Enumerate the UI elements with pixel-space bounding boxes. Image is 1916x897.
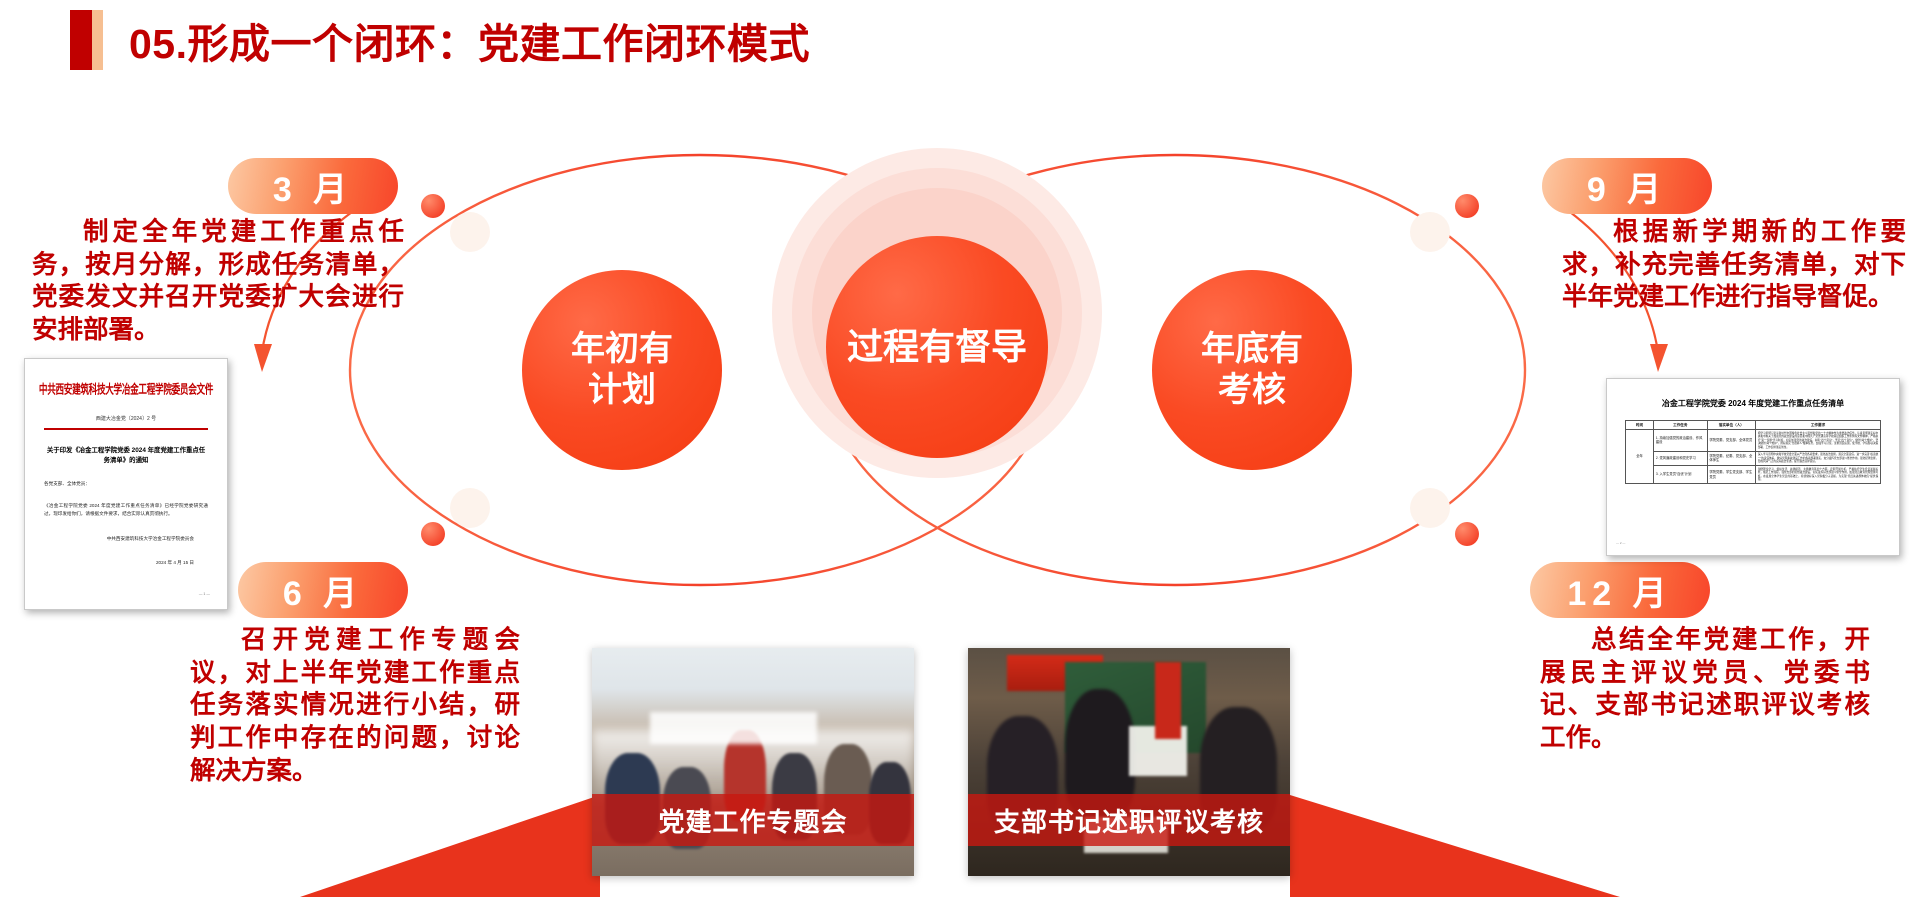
table-row: 全年 1. 持续加强党的政治建设、作风建设 学院党委、党支部、全体党员 把学习贯… — [1626, 430, 1881, 452]
title-accent-bar-light — [92, 10, 103, 70]
stage-text-december: 总结全年党建工作，开展民主评议党员、党委书记、支部书记述职评议考核工作。 — [1540, 624, 1870, 755]
slide-root: 05.形成一个闭环：党建工作闭环模式 — [0, 0, 1916, 897]
photo-card-meeting[interactable]: 党建工作专题会 — [592, 648, 914, 876]
month-badge-december: 12 月 — [1530, 562, 1710, 618]
leader-arrow-right — [1650, 344, 1668, 372]
cell-unit: 学院党委、学生党支部、学生党员 — [1707, 466, 1755, 484]
circle-year-start-plan: 年初有 计划 — [522, 270, 722, 470]
node-september-dot — [1455, 194, 1479, 218]
cell-req: 把学习贯彻习近平新时代中国特色社会主义思想和党的二十大精神作为重要政治任务，认真… — [1756, 430, 1881, 452]
cell-time: 全年 — [1626, 430, 1654, 484]
col-unit: 落实单位（人） — [1707, 421, 1755, 430]
node-june-dot — [421, 522, 445, 546]
circle-left-line1: 年初有 — [571, 329, 673, 370]
col-task: 工作任务 — [1654, 421, 1708, 430]
leader-arrow-left — [254, 344, 272, 372]
node-blob-1 — [450, 212, 490, 252]
stage-text-june: 召开党建工作专题会议，对上半年党建工作重点任务落实情况进行小结，研判工作中存在的… — [190, 624, 520, 787]
cell-task: 3. 入学生党员“百优”计划 — [1654, 466, 1708, 484]
month-badge-march: 3 月 — [228, 158, 398, 214]
task-list-table: 时间 工作任务 落实单位（人） 工作要求 全年 1. 持续加强党的政治建设、作风… — [1625, 420, 1881, 484]
circle-year-end-review: 年底有 考核 — [1152, 270, 1352, 470]
node-blob-4 — [1410, 488, 1450, 528]
stage-text-march: 制定全年党建工作重点任务，按月分解，形成任务清单，党委发文并召开党委扩大会进行安… — [32, 216, 404, 347]
circle-right-line1: 年底有 — [1201, 329, 1303, 370]
cell-req: 深入学习贯彻中央和学校党委全面从严治党各项要求，强化政治监督，落实全面责任，进一… — [1756, 451, 1881, 466]
cell-task: 1. 持续加强党的政治建设、作风建设 — [1654, 430, 1708, 452]
circle-left-line2: 计划 — [571, 370, 673, 411]
notice-signature-org: 中共西安建筑科技大学冶金工程学院委员会 — [32, 535, 208, 543]
circle-process-supervision: 过程有督导 — [826, 236, 1048, 458]
notice-title: 关于印发《冶金工程学院党委 2024 年度党建工作重点任务清单》的通知 — [46, 446, 206, 468]
notice-footer: — 1 — — [199, 592, 210, 596]
col-time: 时间 — [1626, 421, 1654, 430]
notice-salutation: 各党支部、全体党员： — [44, 480, 208, 488]
ribbon-left — [300, 795, 600, 897]
node-blob-2 — [450, 488, 490, 528]
photo-caption-meeting: 党建工作专题会 — [592, 794, 914, 846]
month-badge-september: 9 月 — [1542, 158, 1712, 214]
task-list-footer: — 2 — — [1616, 541, 1625, 545]
cell-unit: 学院党委、党支部、全体党员 — [1707, 430, 1755, 452]
notice-number: 西建大冶金党〔2024〕2 号 — [32, 415, 220, 422]
notice-body: 《冶金工程学院党委 2024 年度党建工作重点任务清单》已经学院党委研究通过，现… — [44, 502, 208, 519]
circle-center-line1: 过程有督导 — [847, 325, 1027, 369]
col-req: 工作要求 — [1756, 421, 1881, 430]
notice-signature-date: 2024 年 4 月 15 日 — [32, 559, 208, 567]
task-list-title: 冶金工程学院党委 2024 年度党建工作重点任务清单 — [1614, 398, 1892, 409]
page-title: 05.形成一个闭环：党建工作闭环模式 — [70, 8, 810, 72]
node-march-dot — [421, 194, 445, 218]
photo-caption-appraisal: 支部书记述职评议考核 — [968, 794, 1290, 846]
circle-right-line2: 考核 — [1201, 370, 1303, 411]
cell-task: 2. 党风廉政建设和党史学习 — [1654, 451, 1708, 466]
table-header-row: 时间 工作任务 落实单位（人） 工作要求 — [1626, 421, 1881, 430]
stage-text-september: 根据新学期新的工作要求，补充完善任务清单，对下半年党建工作进行指导督促。 — [1562, 216, 1906, 314]
table-row: 3. 入学生党员“百优”计划 学院党委、学生党支部、学生党员 围绕理论学习、组织… — [1626, 466, 1881, 484]
title-text: 05.形成一个闭环：党建工作闭环模式 — [129, 10, 810, 70]
document-thumbnail-task-list[interactable]: 冶金工程学院党委 2024 年度党建工作重点任务清单 时间 工作任务 落实单位（… — [1606, 378, 1900, 556]
cell-unit: 学院党委、纪委、党支部、全体师生 — [1707, 451, 1755, 466]
photo-card-appraisal[interactable]: 支部书记述职评议考核 — [968, 648, 1290, 876]
node-december-dot — [1455, 522, 1479, 546]
month-badge-june: 6 月 — [238, 562, 408, 618]
title-accent-bar-dark — [70, 10, 92, 70]
cell-req: 围绕理论学习、组织生活、先锋模范、主题教育等四个方面，定期开展分析，严格执行学生… — [1756, 466, 1881, 484]
notice-divider — [44, 428, 208, 430]
notice-header: 中共西安建筑科技大学冶金工程学院委员会文件 — [32, 380, 220, 397]
node-blob-3 — [1410, 212, 1450, 252]
ribbon-right — [1290, 795, 1620, 897]
document-thumbnail-notice[interactable]: 中共西安建筑科技大学冶金工程学院委员会文件 西建大冶金党〔2024〕2 号 关于… — [24, 358, 228, 610]
table-row: 2. 党风廉政建设和党史学习 学院党委、纪委、党支部、全体师生 深入学习贯彻中央… — [1626, 451, 1881, 466]
